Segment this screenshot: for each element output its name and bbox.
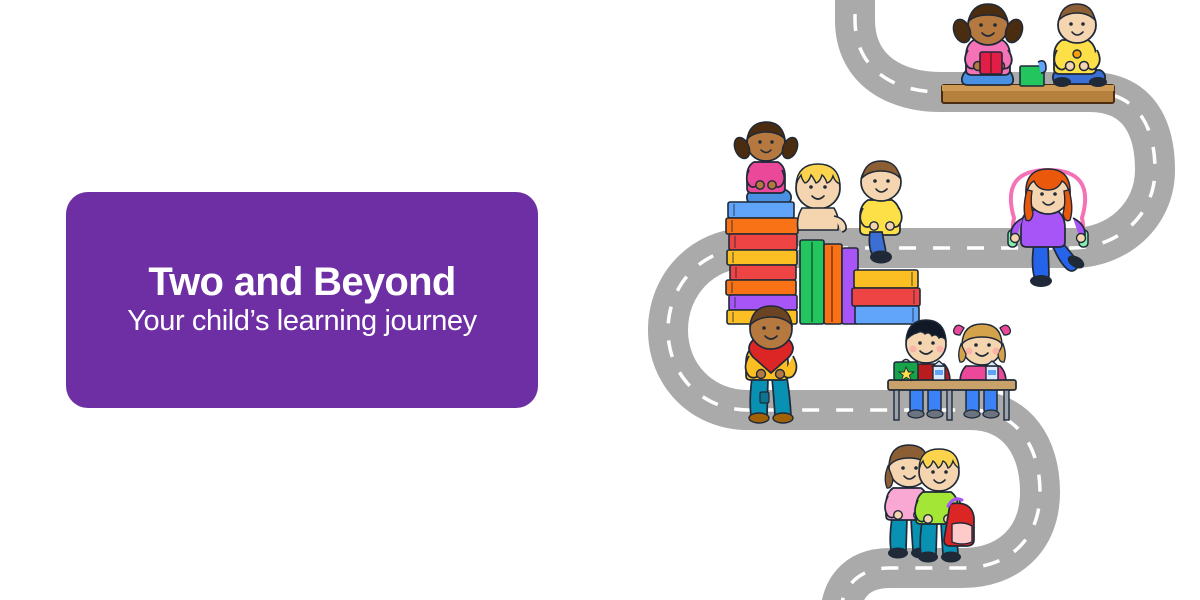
book-stack-middle [800,240,858,324]
page-title: Two and Beyond [148,261,455,303]
book-stack-left [726,202,798,324]
backpack-prop [944,499,974,546]
road-illustration [640,0,1200,600]
lunchbox-prop [894,360,918,381]
promo-card[interactable]: Two and Beyond Your child’s learning jou… [66,192,538,408]
scene-bench-readers [942,4,1114,103]
book-stack-right [852,270,920,324]
child-blonde [796,164,846,232]
scene-book-stack [726,122,920,324]
page-root: Two and Beyond Your child’s learning jou… [0,0,1200,600]
bench-prop [942,85,1114,103]
green-book-prop [1020,61,1046,86]
child-boy-sitting [1053,4,1107,87]
child-girl-on-books [731,122,800,204]
scene-walking-pair [885,445,974,563]
red-book-prop [980,52,1002,74]
page-subtitle: Your child’s learning journey [127,305,477,338]
